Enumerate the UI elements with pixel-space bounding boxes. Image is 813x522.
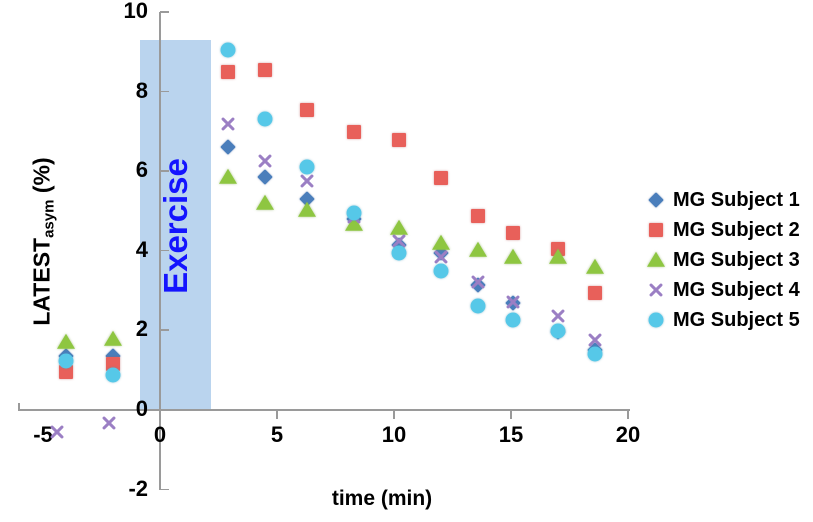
x-tick-10: [393, 410, 395, 419]
legend-label: MG Subject 3: [673, 250, 800, 270]
legend-label: MG Subject 2: [673, 220, 800, 240]
y-tick-6: [160, 170, 169, 172]
x-tick-5: [276, 410, 278, 419]
legend-marker-circle-icon: [645, 309, 667, 331]
data-point: [550, 324, 565, 339]
data-point: [220, 42, 235, 57]
exercise-band-label: Exercise: [157, 126, 195, 326]
data-point: [586, 258, 604, 273]
legend-marker-cross-icon: [645, 279, 667, 301]
data-point: [104, 331, 122, 346]
data-point: [258, 169, 274, 185]
y-axis-title-main: LATEST: [29, 238, 55, 326]
data-point: [49, 423, 66, 440]
legend-label: MG Subject 1: [673, 190, 800, 210]
legend-label: MG Subject 5: [673, 310, 800, 330]
data-point: [59, 354, 74, 369]
legend-item-3[interactable]: MG Subject 3: [645, 245, 813, 275]
legend-item-2[interactable]: MG Subject 2: [645, 215, 813, 245]
data-point: [298, 202, 316, 217]
data-point: [256, 195, 274, 210]
data-point: [549, 249, 567, 264]
diamond-icon: [648, 192, 664, 208]
legend-marker-diamond-icon: [645, 189, 667, 211]
x-tick-20: [627, 410, 629, 419]
legend: MG Subject 1MG Subject 2MG Subject 3MG S…: [645, 185, 813, 335]
legend-item-5[interactable]: MG Subject 5: [645, 305, 813, 335]
y-axis-title-unit: (%): [29, 157, 55, 199]
data-point: [300, 160, 315, 175]
y-tick-label--2: -2: [80, 478, 148, 500]
data-point: [100, 414, 117, 431]
x-tick-label-20: 20: [588, 424, 668, 446]
data-point: [469, 242, 487, 257]
data-point: [392, 133, 406, 147]
square-icon: [649, 223, 663, 237]
y-axis-title-subscript: asym: [41, 200, 58, 238]
x-tick-label-5: 5: [237, 424, 317, 446]
data-point: [347, 125, 361, 139]
y-tick-label-6: 6: [80, 159, 148, 181]
data-point: [506, 226, 520, 240]
data-point: [221, 65, 235, 79]
y-tick-0: [160, 409, 169, 411]
circle-icon: [649, 313, 664, 328]
data-point: [299, 173, 316, 190]
y-tick--2: [160, 489, 169, 491]
legend-item-4[interactable]: MG Subject 4: [645, 275, 813, 305]
data-point: [219, 116, 236, 133]
data-point: [588, 286, 602, 300]
data-point: [57, 334, 75, 349]
data-point: [347, 205, 362, 220]
triangle-icon: [647, 252, 665, 267]
data-point: [391, 245, 406, 260]
data-point: [506, 313, 521, 328]
x-tick-label-10: 10: [354, 424, 434, 446]
data-point: [471, 298, 486, 313]
x-tick-0: [159, 410, 161, 419]
y-tick-label-4: 4: [80, 239, 148, 261]
x-axis-left-cap: [18, 403, 20, 411]
data-point: [258, 63, 272, 77]
data-point: [300, 103, 314, 117]
y-axis-title: LATESTasym (%): [29, 122, 56, 362]
y-tick-label-8: 8: [80, 80, 148, 102]
data-point: [434, 171, 448, 185]
data-point: [505, 293, 522, 310]
legend-marker-triangle-icon: [645, 249, 667, 271]
data-point: [219, 169, 237, 184]
legend-item-1[interactable]: MG Subject 1: [645, 185, 813, 215]
data-point: [471, 209, 485, 223]
data-point: [470, 273, 487, 290]
x-axis-title: time (min): [212, 487, 552, 511]
y-tick-10: [160, 11, 169, 13]
y-tick-4: [160, 250, 169, 252]
legend-marker-square-icon: [645, 219, 667, 241]
data-point: [549, 308, 566, 325]
x-tick-15: [510, 410, 512, 419]
chart-root: Exercise -2024681005101520-5 LATESTasym …: [0, 0, 813, 522]
x-tick-label-15: 15: [471, 424, 551, 446]
data-point: [220, 140, 236, 156]
data-point: [504, 249, 522, 264]
data-point: [257, 153, 274, 170]
legend-label: MG Subject 4: [673, 280, 800, 300]
x-tick-label--5: -5: [3, 424, 83, 446]
cross-icon: [648, 282, 665, 299]
data-point: [258, 112, 273, 127]
x-tick-label-0: 0: [120, 424, 200, 446]
data-point: [588, 347, 603, 362]
y-tick-label-10: 10: [80, 0, 148, 22]
data-point: [433, 263, 448, 278]
data-point: [106, 367, 121, 382]
y-tick-8: [160, 91, 169, 93]
y-tick-2: [160, 329, 169, 331]
